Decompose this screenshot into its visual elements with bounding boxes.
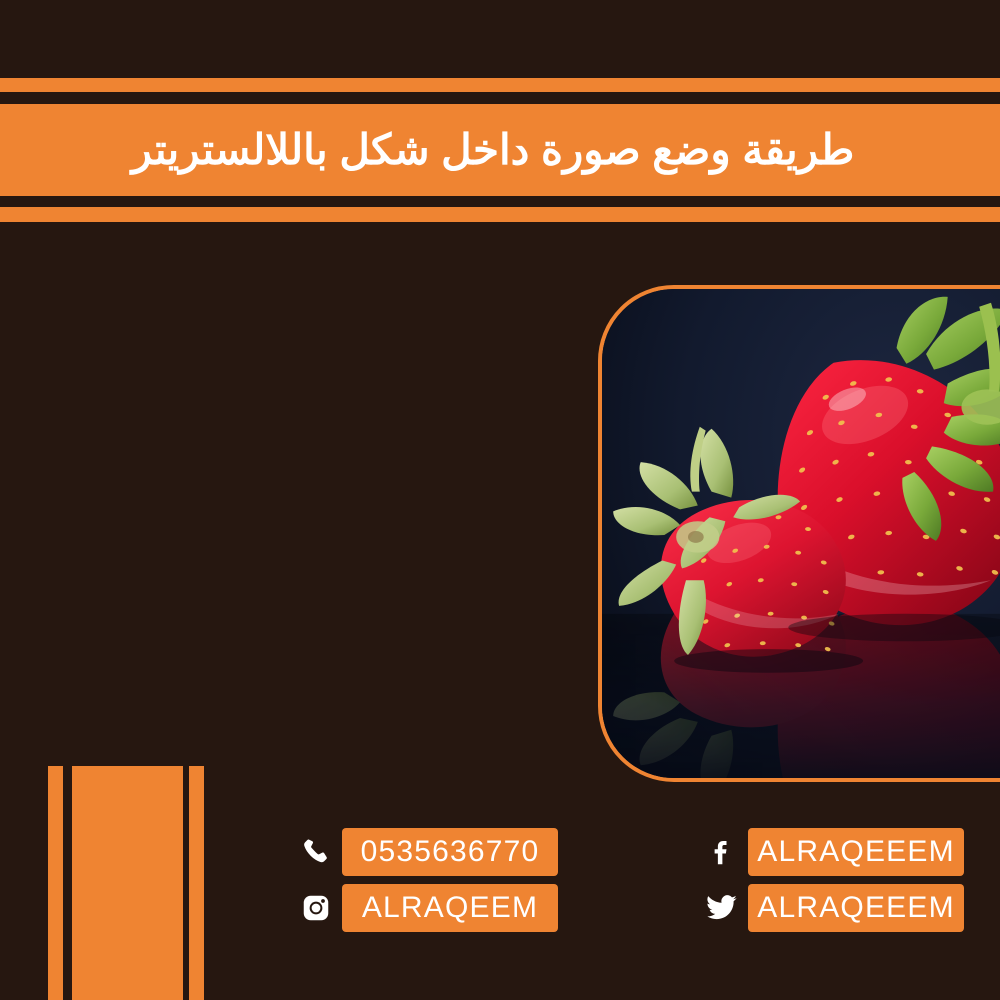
twitter-pill[interactable]: ALRAQEEEM — [748, 884, 964, 932]
strawberry-illustration — [602, 289, 1000, 778]
twitter-handle: ALRAQEEEM — [757, 893, 955, 923]
twitter-icon — [702, 886, 742, 930]
photo-frame — [598, 285, 1000, 782]
banner-top-accent-stripe — [0, 78, 1000, 92]
facebook-handle: ALRAQEEEM — [757, 837, 955, 867]
contact-row-phone[interactable]: 0535636770 — [296, 828, 558, 876]
instagram-pill[interactable]: ALRAQEEM — [342, 884, 558, 932]
page-title: طريقة وضع صورة داخل شكل باللالستريتر — [0, 129, 1000, 171]
contact-bar: 0535636770 ALRAQEEM — [0, 828, 1000, 948]
phone-pill[interactable]: 0535636770 — [342, 828, 558, 876]
contact-row-twitter[interactable]: ALRAQEEEM — [702, 884, 964, 932]
poster-canvas: طريقة وضع صورة داخل شكل باللالستريتر — [0, 0, 1000, 1000]
contact-column-left: 0535636770 ALRAQEEM — [296, 828, 558, 940]
contact-row-facebook[interactable]: ALRAQEEEM — [702, 828, 964, 876]
banner-bottom-accent-stripe — [0, 207, 1000, 222]
banner-top-gap-line — [0, 92, 1000, 104]
strawberry-photo — [602, 289, 1000, 778]
phone-number: 0535636770 — [361, 837, 540, 867]
banner-bottom-gap-line — [0, 196, 1000, 207]
phone-icon — [296, 830, 336, 874]
facebook-pill[interactable]: ALRAQEEEM — [748, 828, 964, 876]
contact-column-right: ALRAQEEEM ALRAQEEEM — [702, 828, 964, 940]
banner-main-band: طريقة وضع صورة داخل شكل باللالستريتر — [0, 104, 1000, 196]
instagram-icon — [296, 886, 336, 930]
instagram-handle: ALRAQEEM — [362, 893, 538, 923]
facebook-icon — [702, 830, 742, 874]
contact-row-instagram[interactable]: ALRAQEEM — [296, 884, 558, 932]
